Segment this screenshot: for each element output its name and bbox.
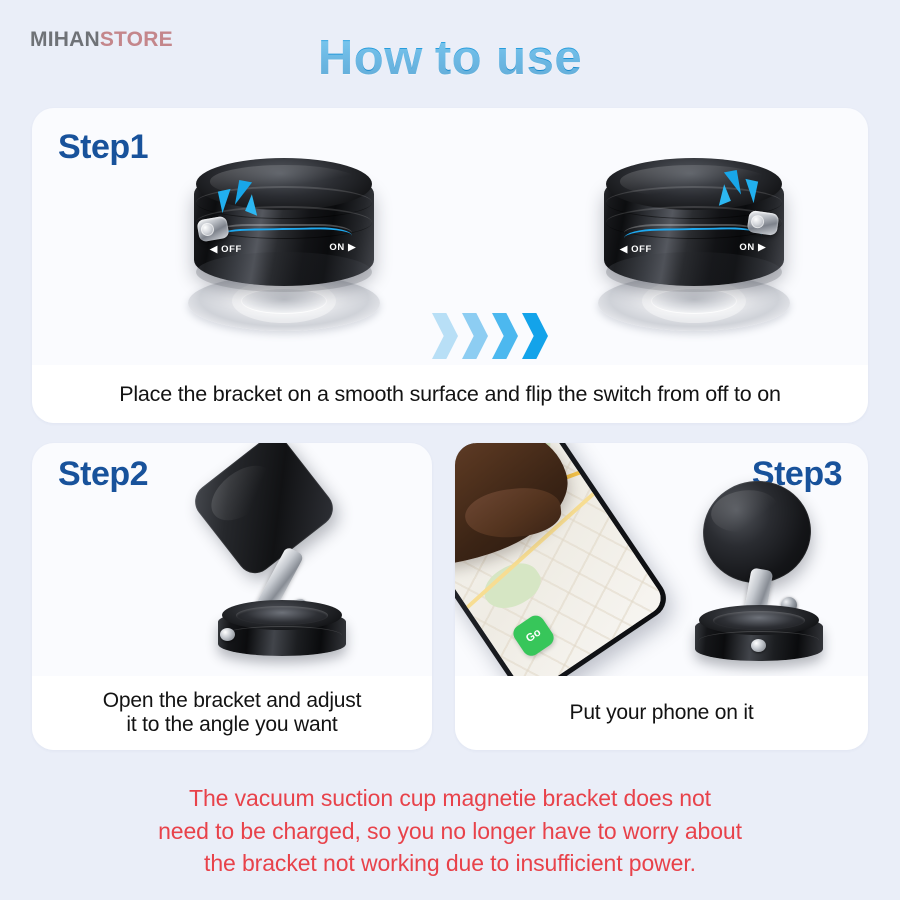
bracket-base [695, 605, 823, 667]
switch-knob-on[interactable] [747, 210, 780, 236]
side-knob-icon[interactable] [220, 628, 235, 641]
chevron-right-icon-4 [522, 313, 548, 359]
step-card-2: Step2 Open the bracket and adjust it to … [32, 443, 432, 750]
step-1-caption: Place the bracket on a smooth surface an… [32, 365, 868, 423]
bracket-base [218, 600, 346, 662]
suction-base-device-on: ◀ OFF ON ▶ [594, 156, 794, 331]
footer-note-line: the bracket not working due to insuffici… [0, 847, 900, 880]
caption-line: Place the bracket on a smooth surface an… [119, 382, 781, 406]
step-card-3: Step3 Go [455, 443, 868, 750]
step-3-illustration: Go [455, 443, 868, 676]
step-3-caption: Put your phone on it [455, 676, 868, 750]
footer-note-line: need to be charged, so you no longer hav… [0, 815, 900, 848]
step-2-caption: Open the bracket and adjust it to the an… [32, 676, 432, 750]
caption-line: Put your phone on it [570, 701, 754, 725]
chevron-right-icon-1 [432, 313, 458, 359]
switch-off-label: ◀ OFF [620, 244, 652, 255]
step-1-illustration: ◀ OFF ON ▶ ◀ OFF ON ▶ [32, 108, 868, 365]
side-knob-icon[interactable] [751, 639, 766, 652]
transition-chevrons [432, 313, 548, 359]
switch-on-label: ON ▶ [329, 242, 356, 253]
page-title-word-1: How [318, 31, 423, 85]
page-title: Howto use [0, 30, 900, 86]
page-title-word-2: to use [435, 31, 582, 85]
chevron-right-icon-3 [492, 313, 518, 359]
device-lower-lip [196, 252, 372, 292]
magnetic-plate [188, 443, 340, 580]
footer-note: The vacuum suction cup magnetie bracket … [0, 782, 900, 880]
switch-on-label: ON ▶ [739, 242, 766, 253]
folding-bracket-open [210, 453, 380, 668]
sparkle-burst-icon [704, 170, 758, 212]
caption-line: it to the angle you want [103, 713, 361, 737]
step-card-1: Step1 ◀ OFF ON ▶ [32, 108, 868, 423]
sparkle-burst-icon [218, 180, 272, 222]
step-2-illustration [32, 443, 432, 676]
chevron-right-icon-2 [462, 313, 488, 359]
caption-line: Open the bracket and adjust [103, 689, 361, 713]
suction-base-device-off: ◀ OFF ON ▶ [184, 156, 384, 331]
footer-note-line: The vacuum suction cup magnetie bracket … [0, 782, 900, 815]
switch-off-label: ◀ OFF [210, 244, 242, 255]
folding-bracket-upright [685, 481, 855, 671]
device-lower-lip [606, 252, 782, 292]
